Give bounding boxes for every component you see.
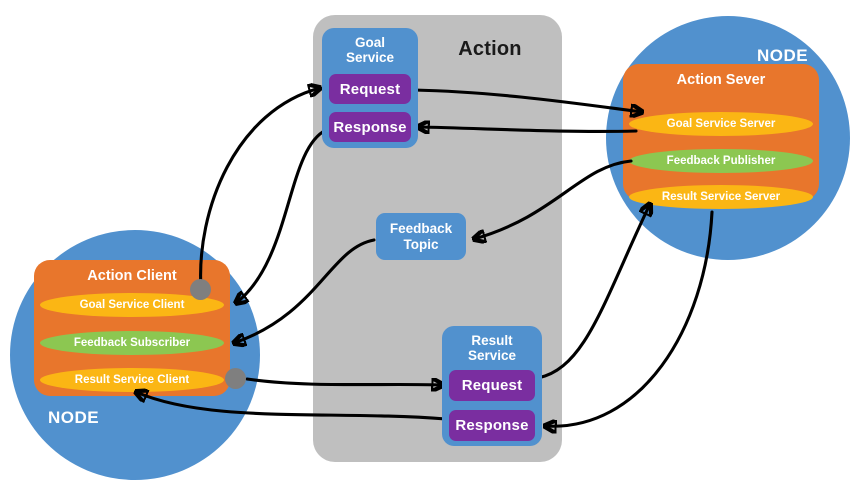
- action-architecture-diagram: Action NODE NODE Action Sever Goal Servi…: [0, 0, 854, 480]
- result-service-client-connector-dot: [225, 368, 246, 389]
- edge-feedback-topic-to-subscriber: [234, 240, 374, 343]
- result-service-title-line2: Service: [442, 348, 542, 363]
- edge-request-to-result-server: [538, 204, 650, 378]
- goal-service-title-line2: Service: [322, 50, 418, 65]
- edge-goal-server-to-response: [418, 127, 636, 131]
- goal-service-title-line1: Goal: [322, 35, 418, 50]
- edge-response-to-result-client: [136, 392, 446, 419]
- feedback-topic-title-line1: Feedback: [376, 221, 466, 236]
- result-service-title-line1: Result: [442, 333, 542, 348]
- result-service-response-pill[interactable]: Response: [449, 410, 535, 441]
- feedback-topic-box[interactable]: Feedback Topic: [376, 213, 466, 260]
- edge-result-server-to-response: [545, 212, 712, 426]
- edge-response-to-goal-client: [236, 130, 326, 303]
- edge-result-client-to-request: [247, 379, 443, 385]
- edge-feedback-publisher-to-topic: [474, 161, 631, 239]
- goal-service-client-connector-dot: [190, 279, 211, 300]
- goal-service-request-pill[interactable]: Request: [329, 74, 411, 104]
- edge-request-to-goal-server: [414, 90, 642, 112]
- feedback-topic-title-line2: Topic: [376, 237, 466, 252]
- edge-goal-client-to-request: [201, 88, 320, 289]
- goal-service-response-pill[interactable]: Response: [329, 112, 411, 142]
- result-service-request-pill[interactable]: Request: [449, 370, 535, 401]
